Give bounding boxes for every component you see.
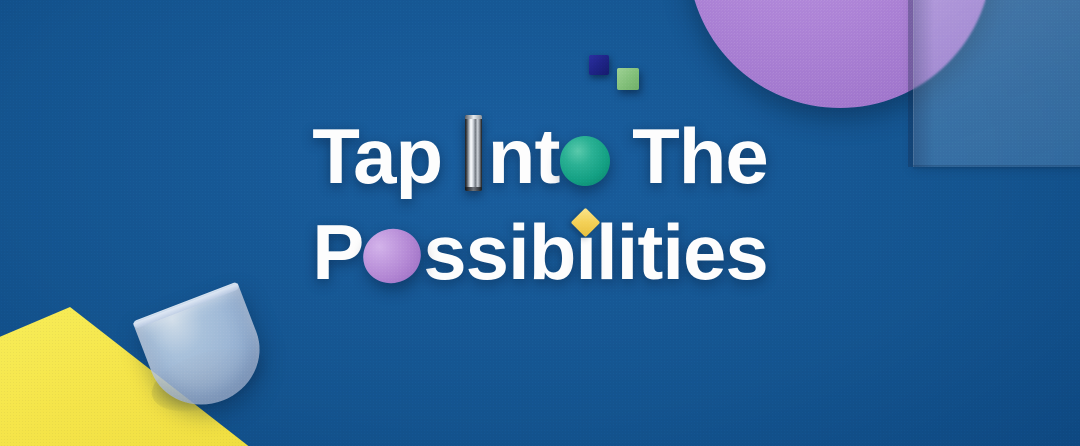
navy-square-shape [589, 55, 609, 75]
headline-text-nt: nt [488, 112, 560, 200]
headline-line-1: Tap nt The [0, 108, 1080, 204]
purple-disc-icon [356, 221, 428, 290]
diamond-dotted-i: iı [575, 204, 596, 300]
headline-text-lities: lities [596, 208, 768, 296]
teal-sphere-icon [560, 136, 610, 186]
headline-text-the: The [611, 112, 767, 200]
metallic-cylinder-icon [465, 115, 482, 191]
headline-text-tap: Tap [312, 112, 463, 200]
headline: Tap nt The Pssibiılities [0, 108, 1080, 300]
headline-text-p: P [312, 208, 363, 296]
green-square-shape [617, 68, 639, 90]
headline-text-ssib: ssib [423, 208, 575, 296]
headline-line-2: Pssibiılities [0, 204, 1080, 300]
hero-banner: Tap nt The Pssibiılities [0, 0, 1080, 446]
